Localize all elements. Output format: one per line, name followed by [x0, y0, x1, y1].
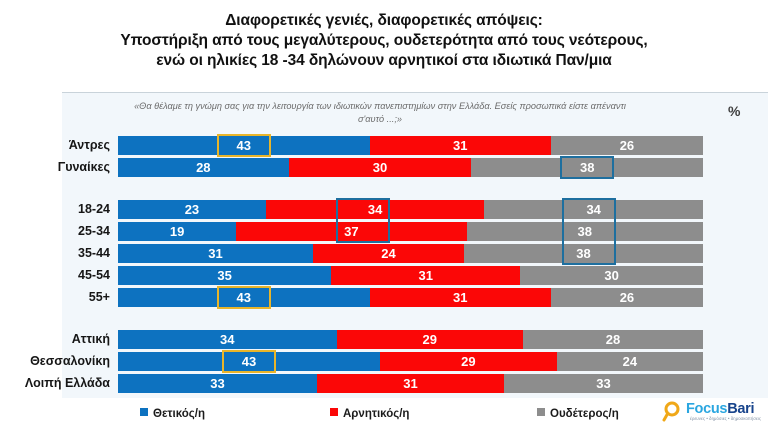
logo-bari-text: Bari: [727, 401, 754, 417]
stacked-bar: 353130: [118, 266, 703, 285]
bar-segment-positive: 43: [118, 352, 380, 371]
bar-segment-neutral: 33: [504, 374, 703, 393]
group-region: Αττική342928Θεσσαλονίκη432924Λοιπή Ελλάδ…: [0, 330, 768, 396]
legend-item-positive[interactable]: Θετικός/η: [140, 404, 205, 424]
chart-row: 25-34193738: [0, 222, 768, 241]
row-label-age: 25-34: [0, 222, 110, 241]
bar-segment-neutral: 34: [484, 200, 703, 219]
stacked-bar: 233434: [118, 200, 703, 219]
chart-row: Θεσσαλονίκη432924: [0, 352, 768, 371]
bar-segment-positive: 31: [118, 244, 313, 263]
stacked-bar: 432924: [118, 352, 703, 371]
title-line-2: Υποστήριξη από τους μεγαλύτερους, ουδετε…: [0, 31, 768, 51]
bar-segment-negative: 31: [331, 266, 520, 285]
bar-segment-positive: 43: [118, 288, 370, 307]
bar-segment-positive: 28: [118, 158, 289, 177]
percent-unit-label: %: [728, 103, 740, 119]
bar-segment-negative: 30: [289, 158, 472, 177]
focusbari-logo: FocusBari έρευνες • δημόσιες • δημοσκοπή…: [660, 400, 766, 426]
row-label-age: 35-44: [0, 244, 110, 263]
bar-segment-negative: 34: [266, 200, 485, 219]
row-label-age: 18-24: [0, 200, 110, 219]
stacked-bar: 283038: [118, 158, 703, 177]
chart-page: Διαφορετικές γενιές, διαφορετικές απόψει…: [0, 0, 768, 428]
row-label-age: 45-54: [0, 266, 110, 285]
bar-segment-positive: 19: [118, 222, 236, 241]
magnifier-icon: [662, 401, 684, 423]
logo-tagline: έρευνες • δημόσιες • δημοσκοπήσεις: [690, 416, 761, 421]
stacked-bar: 193738: [118, 222, 703, 241]
group-gender: Άντρες433126Γυναίκες283038: [0, 136, 768, 180]
chart-legend: Θετικός/η Αρνητικός/η Ουδέτερος/η: [0, 404, 768, 424]
row-label-gender: Άντρες: [0, 136, 110, 155]
bar-segment-neutral: 26: [551, 136, 703, 155]
legend-swatch-negative-icon: [330, 408, 338, 416]
bar-segment-neutral: 28: [523, 330, 703, 349]
logo-focus-text: Focus: [686, 401, 727, 417]
legend-label-positive: Θετικός/η: [153, 408, 205, 420]
group-age: 18-2423343425-3419373835-4431243845-5435…: [0, 200, 768, 310]
bar-segment-negative: 29: [380, 352, 557, 371]
chart-row: Λοιπή Ελλάδα333133: [0, 374, 768, 393]
bar-segment-negative: 37: [236, 222, 466, 241]
bar-segment-positive: 35: [118, 266, 331, 285]
legend-swatch-neutral-icon: [537, 408, 545, 416]
bar-segment-negative: 24: [313, 244, 464, 263]
bar-segment-positive: 33: [118, 374, 317, 393]
bar-segment-positive: 34: [118, 330, 337, 349]
logo-wordmark: FocusBari: [686, 401, 754, 417]
stacked-bar: 312438: [118, 244, 703, 263]
bar-segment-positive: 43: [118, 136, 370, 155]
chart-row: Αττική342928: [0, 330, 768, 349]
bar-segment-neutral: 38: [471, 158, 703, 177]
row-label-age: 55+: [0, 288, 110, 307]
bar-segment-negative: 31: [317, 374, 504, 393]
chart-row: Γυναίκες283038: [0, 158, 768, 177]
bar-segment-neutral: 38: [464, 244, 703, 263]
chart-row: Άντρες433126: [0, 136, 768, 155]
bar-segment-neutral: 38: [467, 222, 703, 241]
bar-segment-neutral: 30: [520, 266, 703, 285]
legend-item-negative[interactable]: Αρνητικός/η: [330, 404, 409, 424]
row-label-gender: Γυναίκες: [0, 158, 110, 177]
chart-row: 35-44312438: [0, 244, 768, 263]
stacked-bar: 342928: [118, 330, 703, 349]
row-label-region: Αττική: [0, 330, 110, 349]
stacked-bar: 333133: [118, 374, 703, 393]
chart-row: 55+433126: [0, 288, 768, 307]
stacked-bar: 433126: [118, 288, 703, 307]
chart-row: 45-54353130: [0, 266, 768, 285]
legend-label-negative: Αρνητικός/η: [343, 408, 409, 420]
row-label-region: Θεσσαλονίκη: [0, 352, 110, 371]
legend-item-neutral[interactable]: Ουδέτερος/η: [537, 404, 619, 424]
bar-segment-negative: 31: [370, 288, 551, 307]
stacked-bar: 433126: [118, 136, 703, 155]
bar-segment-neutral: 24: [557, 352, 703, 371]
legend-swatch-positive-icon: [140, 408, 148, 416]
bar-segment-negative: 29: [337, 330, 523, 349]
bar-segment-negative: 31: [370, 136, 551, 155]
row-label-region: Λοιπή Ελλάδα: [0, 374, 110, 393]
survey-question: «Θα θέλαμε τη γνώμη σας για την λειτουργ…: [120, 100, 640, 127]
bar-segment-neutral: 26: [551, 288, 703, 307]
page-title: Διαφορετικές γενιές, διαφορετικές απόψει…: [0, 11, 768, 70]
legend-label-neutral: Ουδέτερος/η: [550, 408, 619, 420]
title-line-1: Διαφορετικές γενιές, διαφορετικές απόψει…: [0, 11, 768, 31]
bar-segment-positive: 23: [118, 200, 266, 219]
title-line-3: ενώ οι ηλικίες 18 -34 δηλώνουν αρνητικοί…: [0, 51, 768, 71]
chart-row: 18-24233434: [0, 200, 768, 219]
